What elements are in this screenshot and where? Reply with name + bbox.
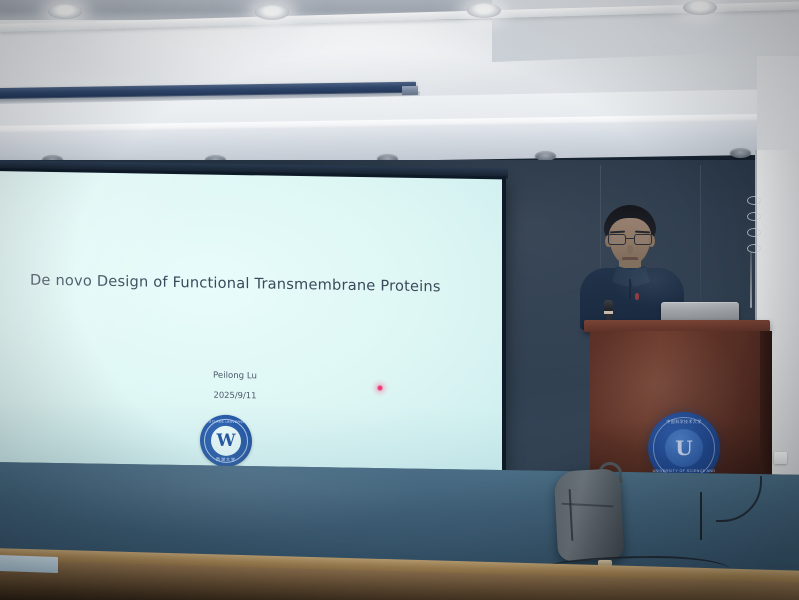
emblem-arc-text-top: 中国科学技术大学	[648, 419, 720, 425]
foreground-paper	[0, 555, 58, 573]
slide-surface: De novo Design of Functional Transmembra…	[0, 171, 502, 472]
emblem-center-disc: U	[665, 429, 703, 467]
ceiling-light-1	[48, 4, 82, 19]
wall-seam-2	[700, 165, 701, 315]
microphone-icon	[604, 300, 613, 322]
podium-cable-1	[700, 492, 702, 540]
microphone-head	[604, 300, 613, 311]
glasses-lens-right	[634, 234, 652, 245]
emblem-monogram: U	[675, 438, 692, 458]
glasses-lens-left	[608, 234, 626, 245]
wall-cable-loop-1	[747, 196, 761, 205]
ceiling-light-4	[683, 0, 717, 15]
seal-center-disc: W	[211, 426, 241, 456]
laser-pointer-dot	[377, 385, 383, 391]
wall-cable-loop-3	[747, 228, 761, 237]
slide-title: De novo Design of Functional Transmembra…	[30, 272, 470, 296]
slide-author: Peilong Lu	[0, 367, 474, 385]
upper-right-wall-block	[757, 56, 799, 156]
downlight-5	[730, 148, 751, 158]
slide-date: 2025/9/11	[0, 386, 474, 404]
westlake-university-seal-icon: WESTLAKE UNIVERSITY W 西湖大学	[200, 414, 252, 467]
ceiling-light-3	[467, 3, 501, 18]
podium-side-panel	[760, 331, 772, 493]
seal-arc-text-bottom: 西湖大学	[200, 456, 252, 463]
projection-screen: De novo Design of Functional Transmembra…	[0, 168, 506, 476]
backpack-seam	[561, 503, 613, 508]
seal-arc-text-top: WESTLAKE UNIVERSITY	[200, 419, 252, 424]
seal-monogram: W	[216, 432, 235, 449]
lecture-hall-scene: De novo Design of Functional Transmembra…	[0, 0, 799, 600]
eyeglasses-icon	[607, 234, 654, 245]
wall-cable-drop	[750, 252, 752, 308]
presenter-nose	[627, 245, 633, 254]
ceiling-light-2	[255, 5, 289, 20]
backpack	[554, 468, 625, 561]
laptop-on-podium[interactable]	[661, 302, 739, 322]
wall-cable-loop-2	[747, 212, 761, 221]
